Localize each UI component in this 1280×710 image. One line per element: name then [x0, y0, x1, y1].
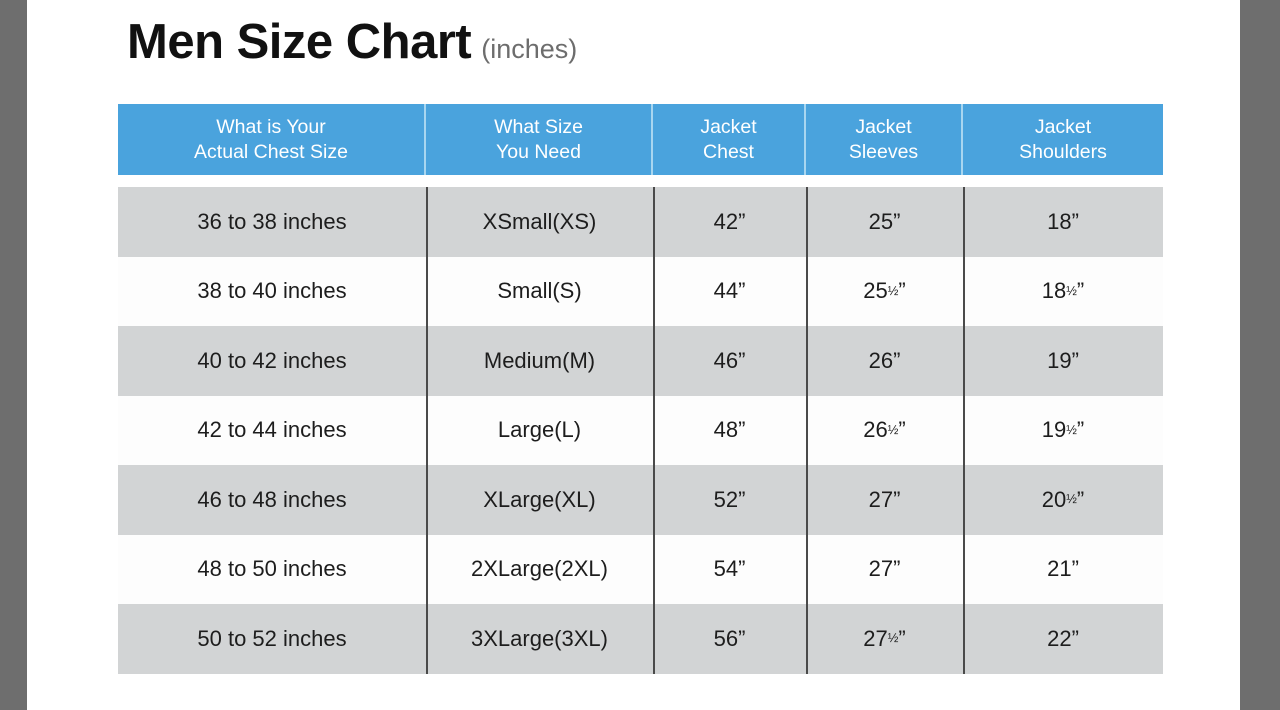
column-header-line2: Actual Chest Size [194, 140, 348, 165]
column-header-line1: Jacket [855, 115, 911, 140]
size-chart-page: Men Size Chart (inches) What is Your Act… [0, 0, 1280, 710]
page-title-units: (inches) [481, 36, 577, 63]
column-header-line2: Shoulders [1019, 140, 1107, 165]
cell-actual-chest-size: 40 to 42 inches [118, 326, 426, 396]
letterbox-left-bar [0, 0, 27, 710]
column-header-line2: Sleeves [849, 140, 918, 165]
cell-jacket-chest: 48” [653, 396, 806, 466]
table-row: 50 to 52 inches3XLarge(3XL)56”27½”22” [118, 604, 1163, 674]
cell-jacket-chest: 46” [653, 326, 806, 396]
cell-jacket-shoulders: 19” [963, 326, 1163, 396]
cell-size-you-need: Large(L) [426, 396, 653, 466]
table-row: 42 to 44 inchesLarge(L)48”26½”19½” [118, 396, 1163, 466]
table-row: 38 to 40 inchesSmall(S)44”25½”18½” [118, 257, 1163, 327]
size-chart-table: What is Your Actual Chest Size What Size… [118, 104, 1163, 674]
cell-jacket-chest: 52” [653, 465, 806, 535]
cell-size-you-need: 3XLarge(3XL) [426, 604, 653, 674]
table-header-row: What is Your Actual Chest Size What Size… [118, 104, 1163, 175]
cell-jacket-sleeves: 26½” [806, 396, 963, 466]
table-body: 36 to 38 inchesXSmall(XS)42”25”18”38 to … [118, 187, 1163, 674]
cell-actual-chest-size: 36 to 38 inches [118, 187, 426, 257]
cell-size-you-need: Small(S) [426, 257, 653, 327]
cell-size-you-need: 2XLarge(2XL) [426, 535, 653, 605]
column-header-line1: What Size [494, 115, 583, 140]
cell-jacket-sleeves: 25” [806, 187, 963, 257]
table-row: 36 to 38 inchesXSmall(XS)42”25”18” [118, 187, 1163, 257]
column-header-jacket-sleeves: Jacket Sleeves [806, 104, 963, 175]
cell-size-you-need: XSmall(XS) [426, 187, 653, 257]
cell-jacket-sleeves: 26” [806, 326, 963, 396]
cell-jacket-shoulders: 20½” [963, 465, 1163, 535]
cell-jacket-sleeves: 25½” [806, 257, 963, 327]
cell-actual-chest-size: 50 to 52 inches [118, 604, 426, 674]
column-header-line1: Jacket [1035, 115, 1091, 140]
cell-jacket-chest: 54” [653, 535, 806, 605]
column-header-actual-chest-size: What is Your Actual Chest Size [118, 104, 426, 175]
column-header-size-you-need: What Size You Need [426, 104, 653, 175]
cell-actual-chest-size: 38 to 40 inches [118, 257, 426, 327]
cell-jacket-chest: 56” [653, 604, 806, 674]
cell-jacket-shoulders: 22” [963, 604, 1163, 674]
column-header-jacket-shoulders: Jacket Shoulders [963, 104, 1163, 175]
letterbox-right-bar [1240, 0, 1280, 710]
table-row: 46 to 48 inchesXLarge(XL)52”27”20½” [118, 465, 1163, 535]
table-row: 40 to 42 inchesMedium(M)46”26”19” [118, 326, 1163, 396]
cell-jacket-shoulders: 19½” [963, 396, 1163, 466]
cell-jacket-shoulders: 18” [963, 187, 1163, 257]
cell-actual-chest-size: 42 to 44 inches [118, 396, 426, 466]
column-header-line2: You Need [496, 140, 581, 165]
column-header-line2: Chest [703, 140, 754, 165]
cell-jacket-sleeves: 27½” [806, 604, 963, 674]
cell-size-you-need: Medium(M) [426, 326, 653, 396]
cell-jacket-shoulders: 21” [963, 535, 1163, 605]
column-header-line1: What is Your [216, 115, 325, 140]
cell-jacket-sleeves: 27” [806, 465, 963, 535]
page-title: Men Size Chart (inches) [127, 18, 577, 67]
header-body-gap [118, 175, 1163, 187]
cell-actual-chest-size: 46 to 48 inches [118, 465, 426, 535]
cell-size-you-need: XLarge(XL) [426, 465, 653, 535]
column-header-line1: Jacket [700, 115, 756, 140]
cell-actual-chest-size: 48 to 50 inches [118, 535, 426, 605]
page-title-main: Men Size Chart [127, 18, 471, 67]
table-row: 48 to 50 inches2XLarge(2XL)54”27”21” [118, 535, 1163, 605]
cell-jacket-chest: 42” [653, 187, 806, 257]
column-header-jacket-chest: Jacket Chest [653, 104, 806, 175]
cell-jacket-chest: 44” [653, 257, 806, 327]
cell-jacket-shoulders: 18½” [963, 257, 1163, 327]
cell-jacket-sleeves: 27” [806, 535, 963, 605]
